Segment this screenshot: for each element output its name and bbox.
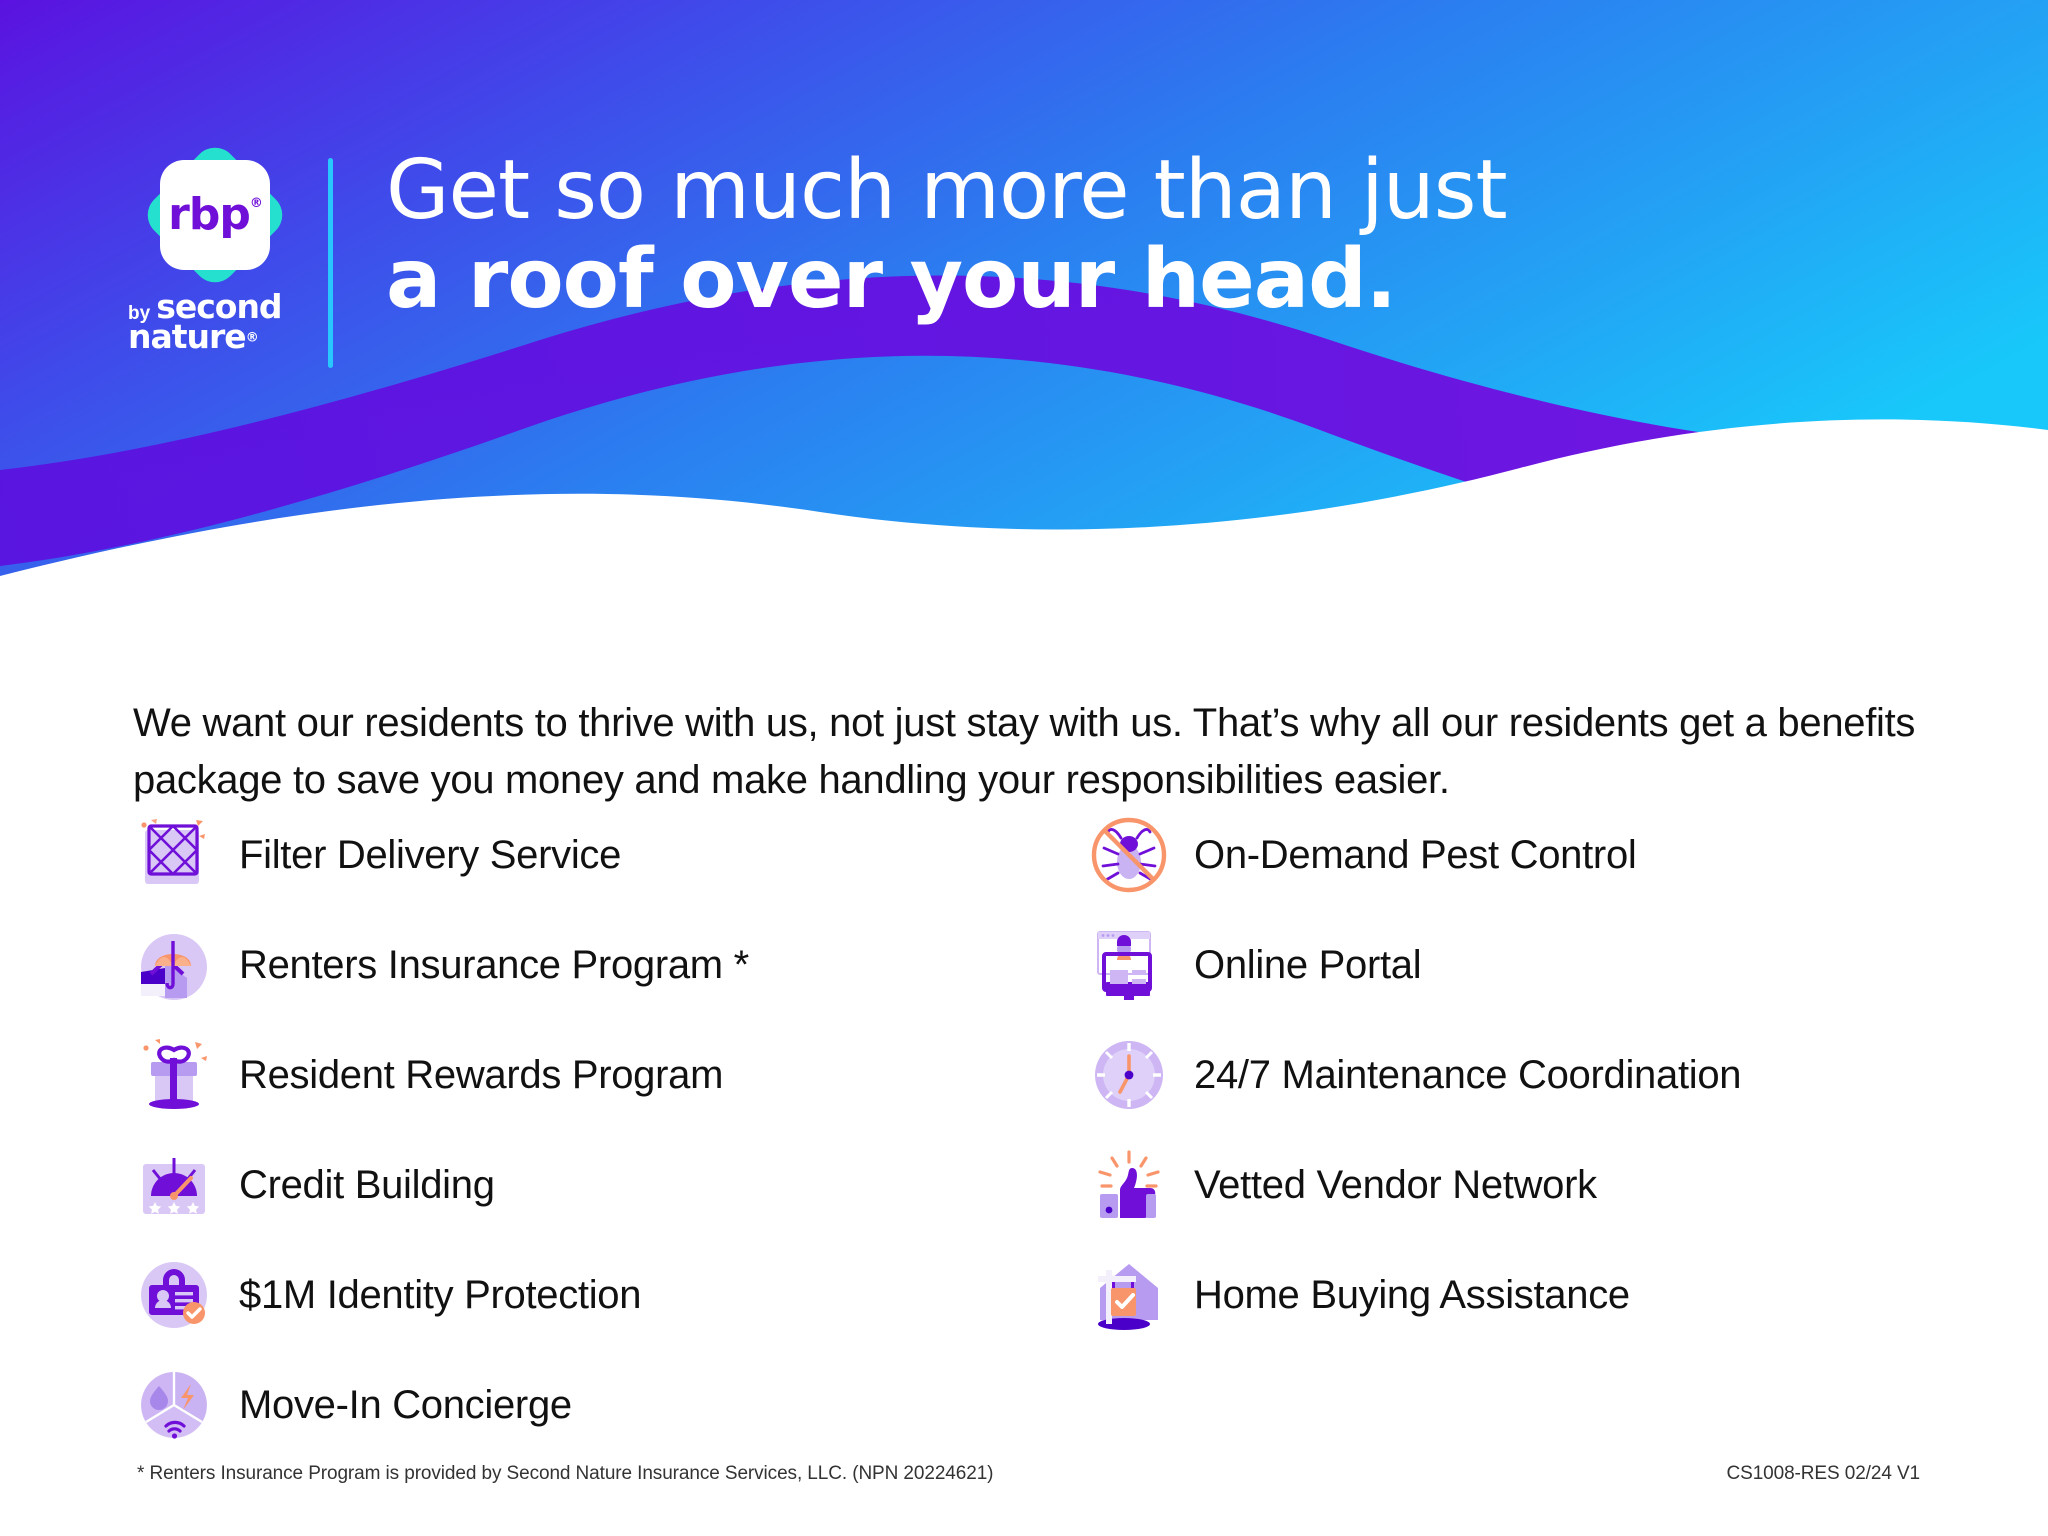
benefit-item: $1M Identity Protection [135,1240,995,1350]
id-badge-check-icon [135,1256,213,1334]
brand-logo: rbp® by second nature® [128,140,308,380]
logo-card-shape: rbp® [160,160,270,270]
document-code: CS1008-RES 02/24 V1 [1727,1463,1921,1485]
clock-icon [1090,1036,1168,1114]
benefit-label: On-Demand Pest Control [1194,833,1636,878]
benefit-item: 24/7 Maintenance Coordination [1090,1020,1970,1130]
benefit-label: Resident Rewards Program [239,1053,723,1098]
logo-byline: by second nature® [128,292,308,353]
benefit-item: Credit Building [135,1130,995,1240]
benefit-label: 24/7 Maintenance Coordination [1194,1053,1741,1098]
benefit-label: Home Buying Assistance [1194,1273,1630,1318]
benefits-column-right: On-Demand Pest Control Online Portal [1090,800,1970,1350]
thumbs-up-icon [1090,1146,1168,1224]
monitor-portal-icon [1090,926,1168,1004]
page-title: Get so much more than just a roof over y… [386,148,1686,326]
benefit-label: $1M Identity Protection [239,1273,641,1318]
benefit-label: Filter Delivery Service [239,833,621,878]
benefit-item: On-Demand Pest Control [1090,800,1970,910]
credit-gauge-icon [135,1146,213,1224]
benefit-label: Online Portal [1194,943,1421,988]
umbrella-house-icon [135,926,213,1004]
logo-registered-mark: ® [250,196,262,211]
logo-divider-line [328,158,333,368]
air-filter-icon [135,816,213,894]
logo-byline-registered-mark: ® [246,331,258,346]
benefit-label: Renters Insurance Program * [239,943,749,988]
headline-line-1: Get so much more than just [386,148,1686,234]
benefit-item: Resident Rewards Program [135,1020,995,1130]
no-pest-icon [1090,816,1168,894]
headline-line-2: a roof over your head. [386,234,1686,326]
gift-box-icon [135,1036,213,1114]
intro-paragraph: We want our residents to thrive with us,… [133,695,1933,809]
benefit-label: Credit Building [239,1163,495,1208]
benefit-item: Move-In Concierge [135,1350,995,1460]
benefit-item: Vetted Vendor Network [1090,1130,1970,1240]
benefit-label: Move-In Concierge [239,1383,572,1428]
benefits-column-left: Filter Delivery Service Renters Insuranc… [135,800,995,1460]
logo-rbp-text: rbp® [168,193,262,237]
benefit-item: Online Portal [1090,910,1970,1020]
footnote-text: * Renters Insurance Program is provided … [137,1463,993,1485]
utilities-circle-icon [135,1366,213,1444]
rbp-logo-mark: rbp® [140,140,290,290]
benefit-item: Filter Delivery Service [135,800,995,910]
logo-byline-nature: nature [128,317,246,356]
benefit-item: Renters Insurance Program * [135,910,995,1020]
benefit-label: Vetted Vendor Network [1194,1163,1597,1208]
benefit-item: Home Buying Assistance [1090,1240,1970,1350]
home-sale-sign-icon [1090,1256,1168,1334]
